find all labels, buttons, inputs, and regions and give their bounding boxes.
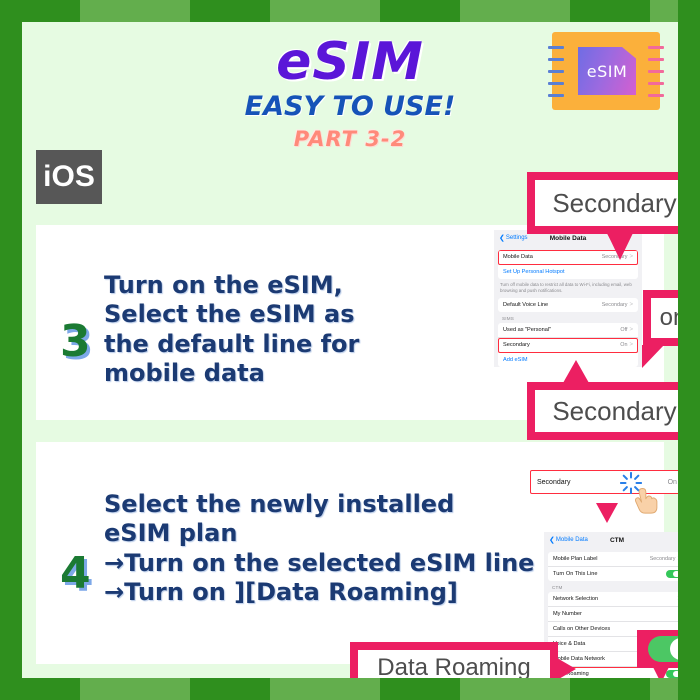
decorative-border-bottom (0, 678, 700, 700)
page-title: eSIM (22, 36, 678, 88)
callout-toggle-zoom (637, 630, 678, 668)
chevron-right-icon: > (677, 556, 678, 562)
toggle-on-illustration (648, 636, 678, 662)
platform-badge: iOS (36, 150, 102, 204)
callout-text: Secondary (535, 180, 678, 226)
decorative-border-top (0, 0, 700, 22)
callout-tail (563, 360, 589, 383)
row-used-as-personal[interactable]: Used as "Personal" Off > (498, 323, 638, 338)
step-number-4: 4 (60, 552, 91, 596)
row-set-up-personal-hotspot[interactable]: Set Up Personal Hotspot (498, 265, 638, 279)
row-default-voice-line[interactable]: Default Voice Line Secondary > (498, 298, 638, 312)
callout-tail (557, 658, 576, 678)
row-my-number[interactable]: My Number (548, 607, 678, 622)
row-label: Default Voice Line (503, 302, 548, 308)
step-text-3: Turn on the eSIM, Select the eSIM as the… (104, 271, 524, 388)
row-value-text: Secondary (602, 302, 628, 308)
row-label: Add eSIM (503, 357, 528, 363)
row-label: Network Selection (553, 596, 598, 602)
section-header-sims: SIMs (494, 312, 642, 323)
part-label: PART 3-2 (22, 128, 678, 151)
row-value: Off > (620, 327, 633, 333)
row-label: My Number (553, 611, 582, 617)
row-value-text: Off (620, 327, 627, 333)
chevron-right-icon: > (629, 327, 633, 333)
callout-tail (653, 667, 669, 678)
mobile-data-note: Turn off mobile data to restrict all dat… (494, 279, 642, 298)
callout-text: Secondary (535, 390, 678, 432)
row-label: Set Up Personal Hotspot (503, 269, 565, 275)
row-value: Secondary > (602, 302, 633, 308)
row-label: Secondary (503, 342, 530, 348)
toggle-turn-on-this-line[interactable] (666, 570, 678, 579)
row-value-text: On (668, 479, 677, 486)
pointer-arrow-ctm (596, 503, 618, 523)
row-network-selection[interactable]: Network Selection > (548, 592, 678, 607)
header-titles: eSIM EASY TO USE! PART 3-2 (22, 36, 678, 151)
callout-data-roaming: Data Roaming (350, 642, 558, 678)
row-label: Mobile Plan Label (553, 556, 597, 562)
callout-tail (607, 233, 633, 260)
callout-on: on (643, 290, 678, 346)
row-label: Mobile Data (503, 254, 533, 260)
group-plan: Mobile Plan Label Secondary > Turn On Th… (548, 552, 678, 581)
step-text-4: Select the newly installed eSIM plan →Tu… (104, 490, 574, 607)
callout-secondary-top: Secondary (527, 172, 678, 234)
chevron-right-icon: > (629, 302, 633, 308)
callout-tail (642, 345, 664, 368)
decorative-border-right (678, 0, 700, 700)
callout-text: on (651, 298, 678, 338)
row-secondary[interactable]: Secondary On > (498, 338, 638, 353)
row-value: Secondary > (650, 556, 678, 562)
row-value: On > (668, 479, 678, 486)
callout-secondary-bottom: Secondary (527, 382, 678, 440)
chevron-right-icon: > (677, 596, 678, 602)
tap-hand-icon (628, 480, 662, 514)
nav-title: CTM (544, 537, 678, 544)
nav-bar-ctm: ❮ Mobile Data CTM (544, 532, 678, 548)
row-mobile-plan-label[interactable]: Mobile Plan Label Secondary > (548, 552, 678, 567)
row-value-text: On (620, 342, 627, 348)
infographic-page: eSIM eSIM EASY TO USE! PART 3-2 iOS 3 Tu… (22, 22, 678, 678)
row-label: Secondary (537, 479, 570, 486)
section-header-ctm: CTM (544, 581, 678, 592)
chevron-right-icon: > (629, 342, 633, 348)
row-value: On > (620, 342, 633, 348)
step-number-3: 3 (60, 320, 91, 364)
page-subtitle: EASY TO USE! (22, 92, 678, 122)
group-default-voice-line: Default Voice Line Secondary > (498, 298, 638, 312)
callout-text: Data Roaming (358, 650, 550, 678)
row-label: Calls on Other Devices (553, 626, 610, 632)
decorative-border-left (0, 0, 22, 700)
row-label: Turn On This Line (553, 571, 597, 577)
row-label: Used as "Personal" (503, 327, 551, 333)
row-turn-on-this-line[interactable]: Turn On This Line (548, 567, 678, 581)
row-value-text: Secondary (650, 556, 676, 562)
